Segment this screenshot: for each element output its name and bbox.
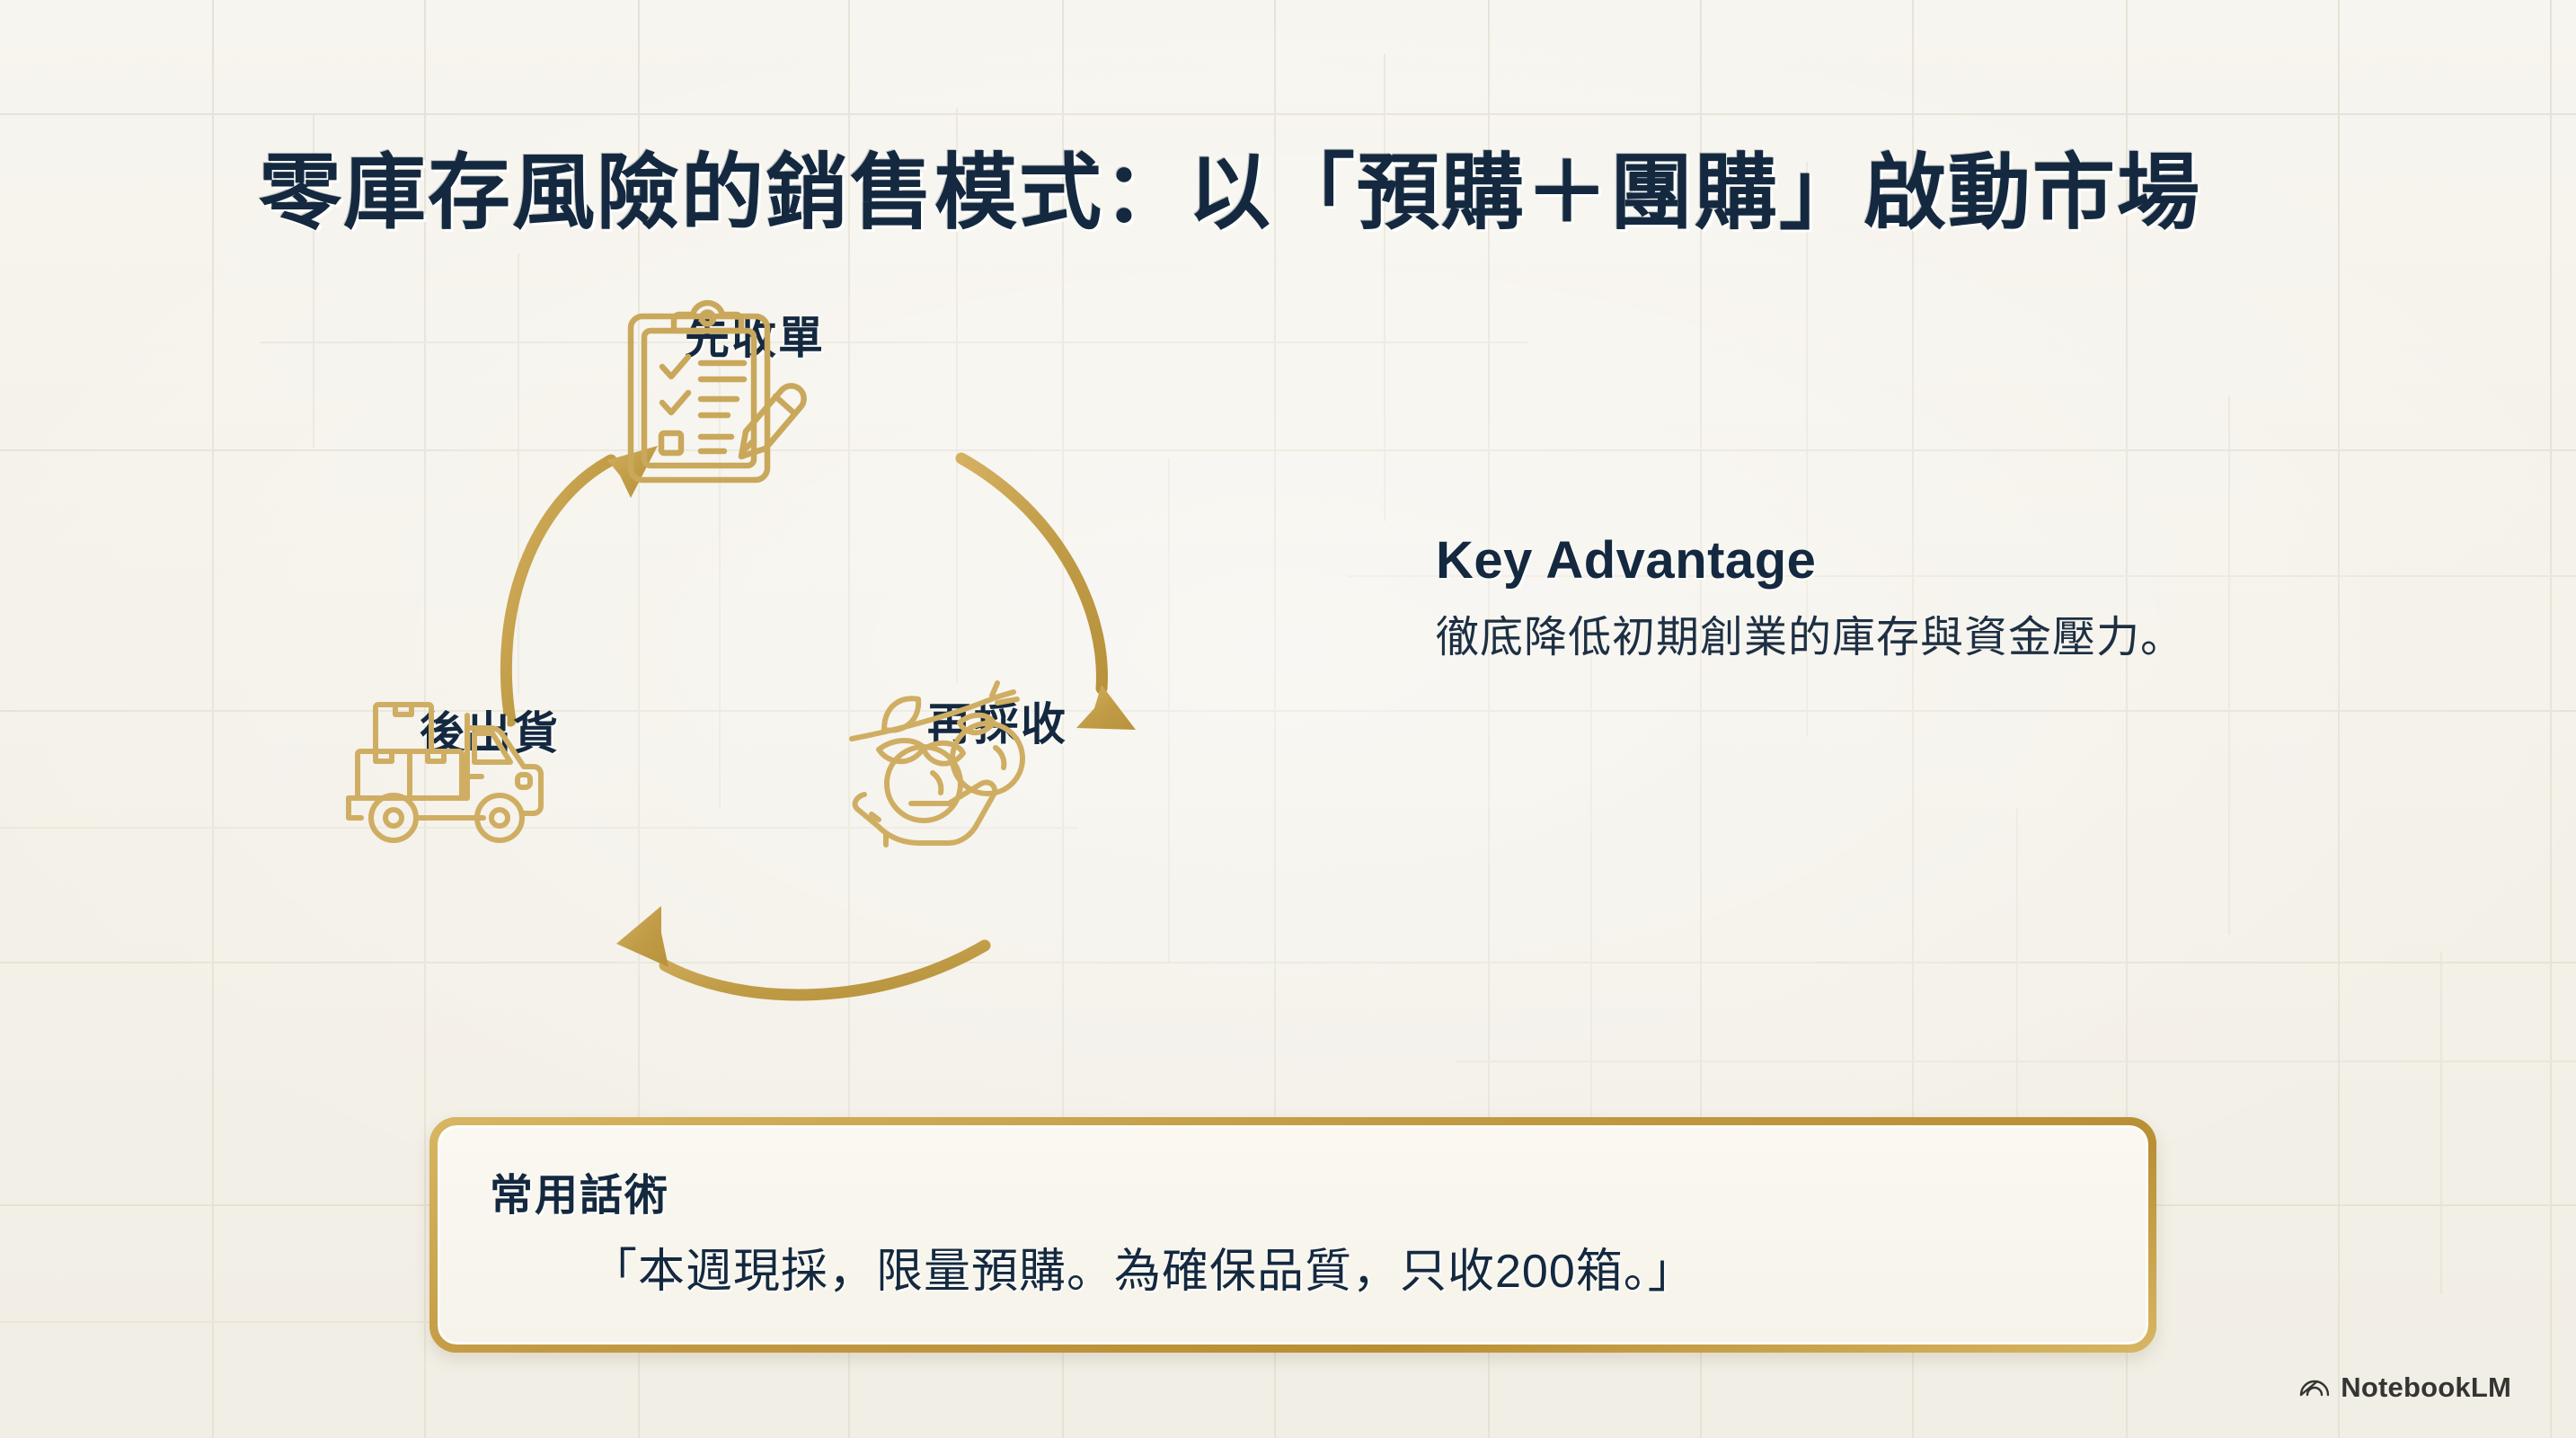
- notebooklm-watermark: NotebookLM: [2298, 1371, 2511, 1404]
- script-box: 常用話術 「本週現採，限量預購。為確保品質，只收200箱。」: [429, 1117, 2156, 1353]
- cycle-node-collect-orders[interactable]: 先收單: [611, 297, 899, 367]
- script-box-quote: 「本週現採，限量預購。為確保品質，只收200箱。」: [590, 1233, 1695, 1300]
- notebooklm-label: NotebookLM: [2341, 1371, 2511, 1404]
- script-box-heading: 常用話術: [490, 1159, 669, 1222]
- arrow-harvest-to-ship: [616, 906, 985, 995]
- key-advantage-heading: Key Advantage: [1436, 530, 2244, 590]
- page-title: 零庫存風險的銷售模式：以「預購＋團購」啟動市場: [259, 126, 2201, 245]
- key-advantage-block: Key Advantage 徹底降低初期創業的庫存與資金壓力。: [1436, 530, 2244, 670]
- slide: 零庫存風險的銷售模式：以「預購＋團購」啟動市場: [0, 0, 2576, 1438]
- cycle-arrows: [341, 297, 1348, 1016]
- cycle-diagram: 先收單: [341, 297, 1348, 1016]
- cycle-node-ship[interactable]: 後出貨: [341, 692, 638, 762]
- notebooklm-arc-icon: [2298, 1372, 2331, 1404]
- key-advantage-body: 徹底降低初期創業的庫存與資金壓力。: [1436, 607, 2244, 670]
- cycle-node-harvest[interactable]: 再採收: [845, 683, 1150, 753]
